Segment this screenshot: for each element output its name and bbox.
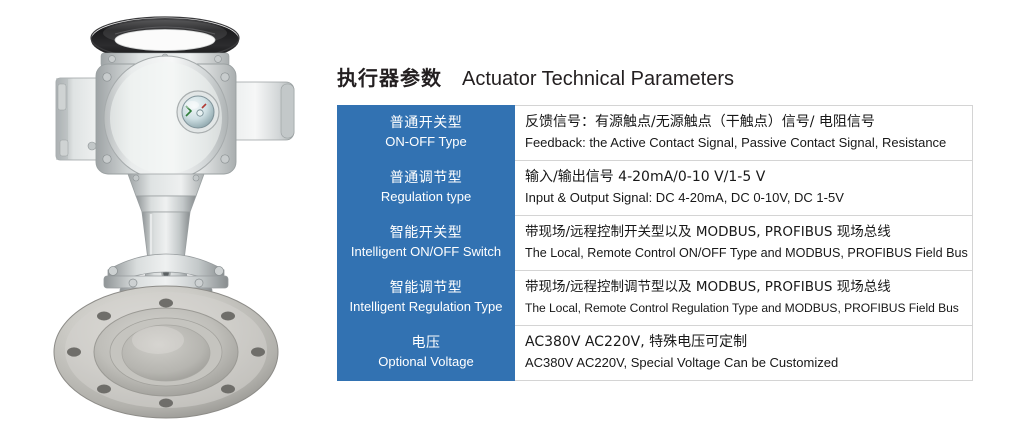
content-cn: 输入/输出信号 4-20mA/0-10 V/1-5 V [525,167,968,188]
content-en: The Local, Remote Control Regulation Typ… [525,298,968,318]
page-title: 执行器参数Actuator Technical Parameters [337,62,734,91]
electric-actuator-valve-illustration [0,0,330,421]
row-content-intelligent-regulation-type: 带现场/远程控制调节型以及 MODBUS, PROFIBUS 现场总线 The … [515,271,973,326]
label-en: Intelligent Regulation Type [342,298,510,316]
actuator-parameters-table: 普通开关型 ON-OFF Type 反馈信号：有源触点/无源触点（干触点）信号/… [337,105,973,381]
label-en: ON-OFF Type [342,133,510,151]
row-label-regulation-type: 普通调节型 Regulation type [338,161,515,216]
row-content-optional-voltage: AC380V AC220V, 特殊电压可定制 AC380V AC220V, Sp… [515,326,973,381]
spec-panel: 执行器参数Actuator Technical Parameters 普通开关型… [337,0,977,421]
table-row: 电压 Optional Voltage AC380V AC220V, 特殊电压可… [338,326,973,381]
label-en: Optional Voltage [342,353,510,371]
content-cn: 带现场/远程控制调节型以及 MODBUS, PROFIBUS 现场总线 [525,277,968,298]
page-title-en: Actuator Technical Parameters [462,68,734,90]
content-en: Feedback: the Active Contact Signal, Pas… [525,133,968,153]
row-content-regulation-type: 输入/输出信号 4-20mA/0-10 V/1-5 V Input & Outp… [515,161,973,216]
label-cn: 普通调节型 [342,169,510,188]
table-row: 普通开关型 ON-OFF Type 反馈信号：有源触点/无源触点（干触点）信号/… [338,106,973,161]
content-en: AC380V AC220V, Special Voltage Can be Cu… [525,353,968,373]
position-indicator-window [177,91,219,133]
table-row: 智能调节型 Intelligent Regulation Type 带现场/远程… [338,271,973,326]
row-label-on-off-type: 普通开关型 ON-OFF Type [338,106,515,161]
row-label-optional-voltage: 电压 Optional Voltage [338,326,515,381]
content-cn: AC380V AC220V, 特殊电压可定制 [525,332,968,353]
label-cn: 普通开关型 [342,114,510,133]
row-content-intelligent-on-off-switch: 带现场/远程控制开关型以及 MODBUS, PROFIBUS 现场总线 The … [515,216,973,271]
content-cn: 反馈信号：有源触点/无源触点（干触点）信号/ 电阻信号 [525,112,968,133]
table-row: 智能开关型 Intelligent ON/OFF Switch 带现场/远程控制… [338,216,973,271]
label-en: Regulation type [342,188,510,206]
row-label-intelligent-regulation-type: 智能调节型 Intelligent Regulation Type [338,271,515,326]
label-en: Intelligent ON/OFF Switch [342,243,510,261]
product-photo [0,0,330,421]
page-title-cn: 执行器参数 [337,66,442,90]
table-row: 普通调节型 Regulation type 输入/输出信号 4-20mA/0-1… [338,161,973,216]
row-content-on-off-type: 反馈信号：有源触点/无源触点（干触点）信号/ 电阻信号 Feedback: th… [515,106,973,161]
content-en: Input & Output Signal: DC 4-20mA, DC 0-1… [525,188,968,208]
valve-flange [54,286,278,418]
label-cn: 智能调节型 [342,279,510,298]
page-root: 执行器参数Actuator Technical Parameters 普通开关型… [0,0,1020,421]
label-cn: 电压 [342,334,510,353]
row-label-intelligent-on-off-switch: 智能开关型 Intelligent ON/OFF Switch [338,216,515,271]
content-cn: 带现场/远程控制开关型以及 MODBUS, PROFIBUS 现场总线 [525,222,968,243]
label-cn: 智能开关型 [342,224,510,243]
content-en: The Local, Remote Control ON/OFF Type an… [525,243,968,263]
